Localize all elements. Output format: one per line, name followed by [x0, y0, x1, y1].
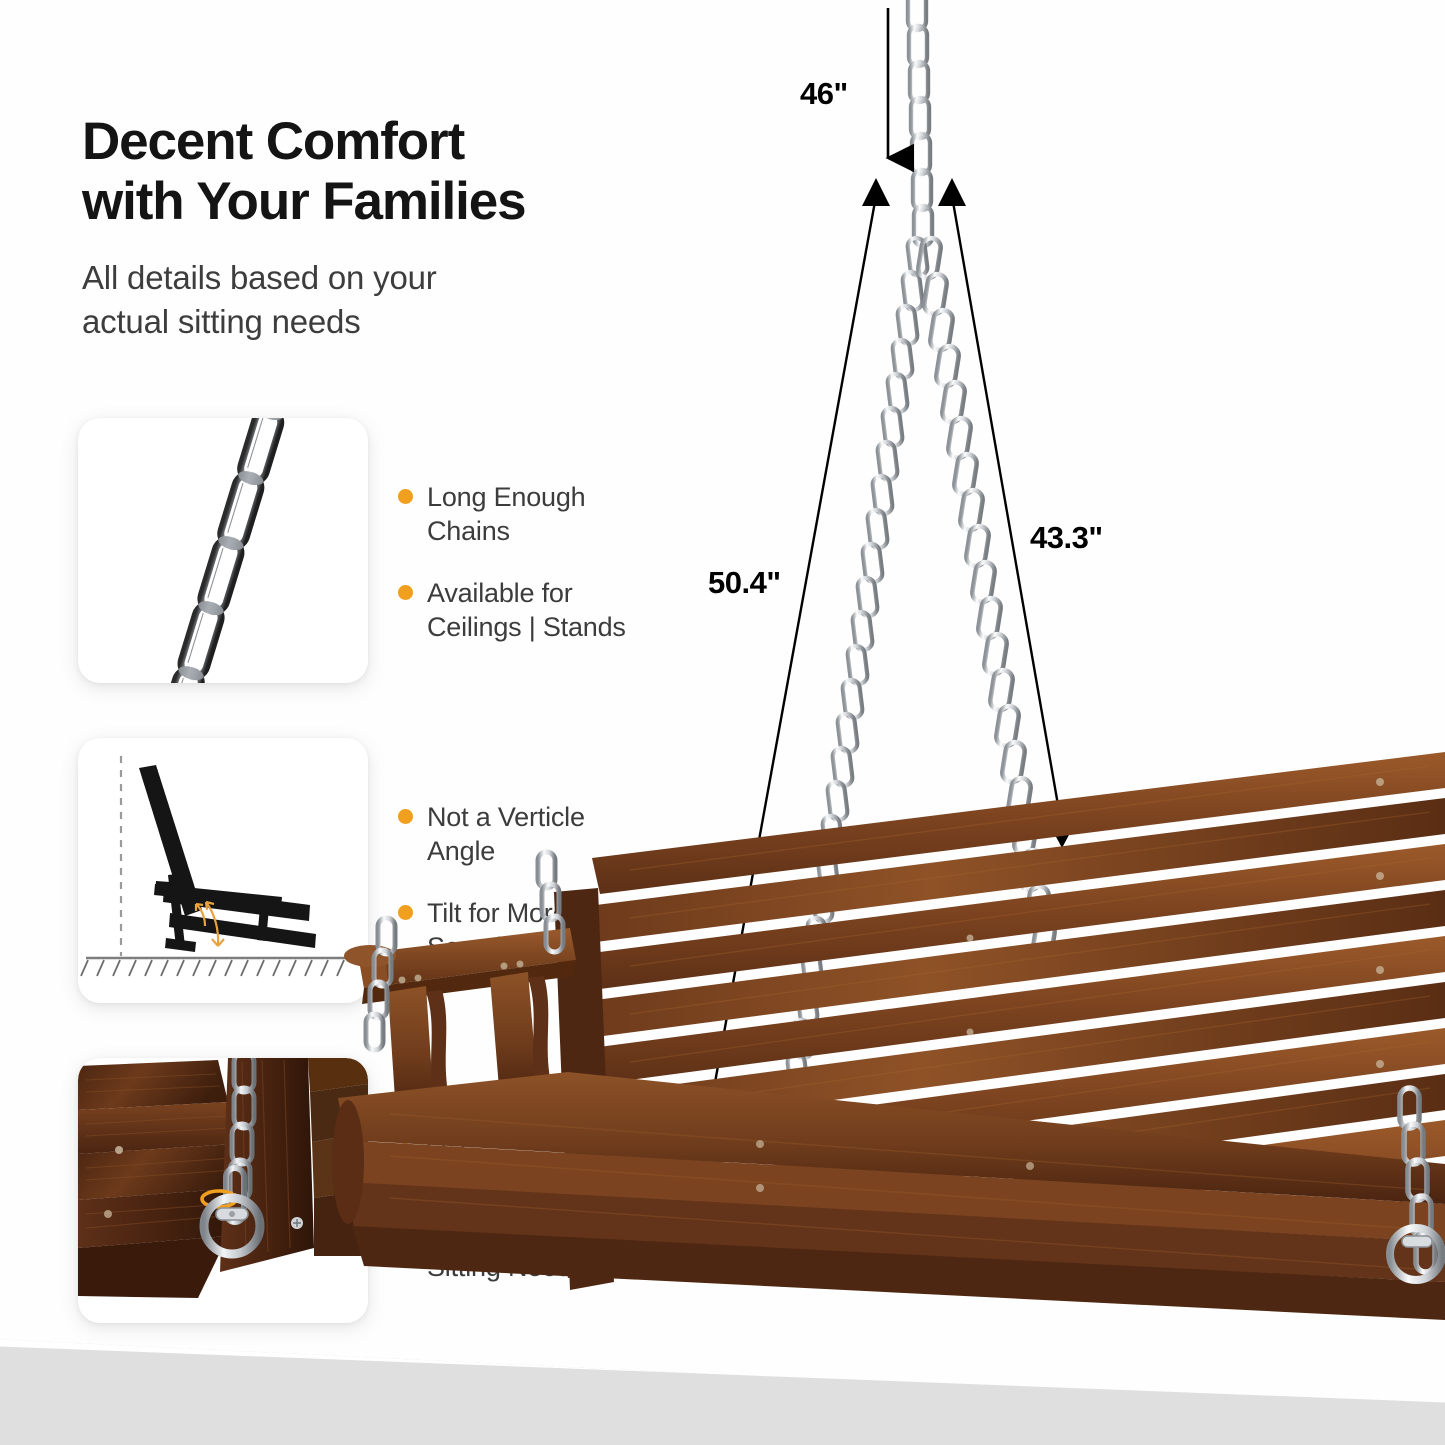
feature-image-card-chains	[78, 418, 368, 683]
bullet-line1: Long Enough	[427, 482, 585, 512]
bullet-line2: Chains	[427, 516, 510, 546]
page-subtitle: All details based on your actual sitting…	[82, 256, 602, 344]
arrow-up-right	[938, 178, 966, 206]
feature-bullets-chains: Long Enough Chains Available for Ceiling…	[398, 480, 688, 644]
bullet-text: Available for Ceilings | Stands	[427, 576, 626, 644]
dimension-label-46: 46"	[800, 76, 848, 112]
feature-image-card-carabiner	[78, 1058, 368, 1323]
infographic-canvas: Decent Comfort with Your Families All de…	[0, 0, 1445, 1445]
porch-swing-product-image	[330, 742, 1445, 1322]
bullet-text: Long Enough Chains	[427, 480, 585, 548]
dim-line-43-3	[952, 196, 1062, 828]
dimension-label-50-4: 50.4"	[708, 565, 781, 601]
ground-hatching	[81, 960, 344, 976]
bullet-dot-icon	[398, 585, 413, 600]
carabiner-wood-photo	[78, 1058, 368, 1323]
feature-image-card-tilt	[78, 738, 368, 1003]
bullet-item: Available for Ceilings | Stands	[398, 576, 688, 644]
top-chain	[908, 0, 932, 246]
arrow-up-left	[862, 178, 890, 206]
bullet-line2: Ceilings | Stands	[427, 612, 626, 642]
chair-silhouette	[139, 765, 316, 952]
page-subtitle-line2: actual sitting needs	[82, 303, 361, 340]
page-title: Decent Comfort with Your Families	[82, 112, 682, 233]
bullet-item: Long Enough Chains	[398, 480, 688, 548]
chain-link-photo	[78, 418, 368, 683]
tilt-angle-diagram	[78, 738, 368, 1003]
page-subtitle-line1: All details based on your	[82, 259, 437, 296]
feature-row-long-chains: Long Enough Chains Available for Ceiling…	[78, 418, 688, 690]
bullet-line1: Available for	[427, 578, 573, 608]
page-title-line2: with Your Families	[82, 172, 526, 231]
page-title-line1: Decent Comfort	[82, 112, 464, 171]
dimension-label-43-3: 43.3"	[1030, 520, 1103, 556]
bullet-dot-icon	[398, 489, 413, 504]
